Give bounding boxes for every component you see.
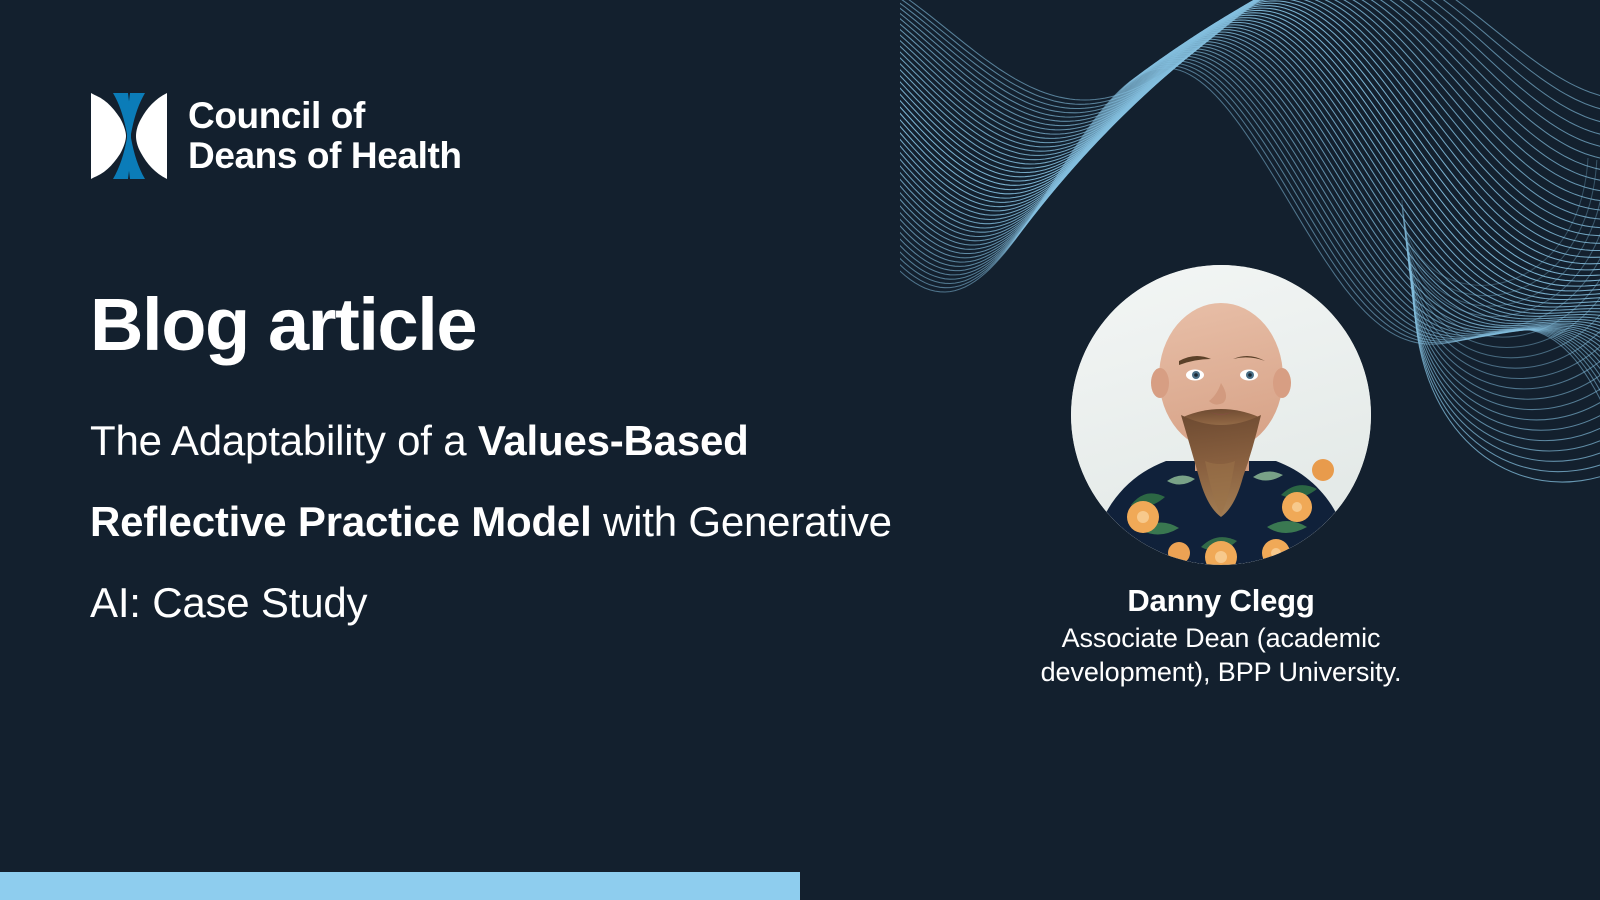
speaker-card: Danny Clegg Associate Dean (academic dev… [1021, 265, 1421, 689]
page-kicker: Blog article [90, 288, 950, 362]
logo-wordmark: Council of Deans of Health [188, 96, 462, 176]
portrait-of-danny-clegg-illustration [1071, 265, 1371, 565]
speaker-role: Associate Dean (academic development), B… [1021, 621, 1421, 689]
speaker-name: Danny Clegg [1021, 583, 1421, 619]
bottom-left-accent-bar [0, 872, 800, 900]
avatar [1071, 265, 1371, 565]
page-title: The Adaptability of a Values-Based Refle… [90, 400, 950, 643]
brand-logo[interactable]: Council of Deans of Health [90, 92, 462, 180]
content-left-column: Blog article The Adaptability of a Value… [90, 288, 950, 643]
headline-lead: The Adaptability of a [90, 417, 478, 464]
council-of-deans-of-health-mark-icon [90, 92, 168, 180]
